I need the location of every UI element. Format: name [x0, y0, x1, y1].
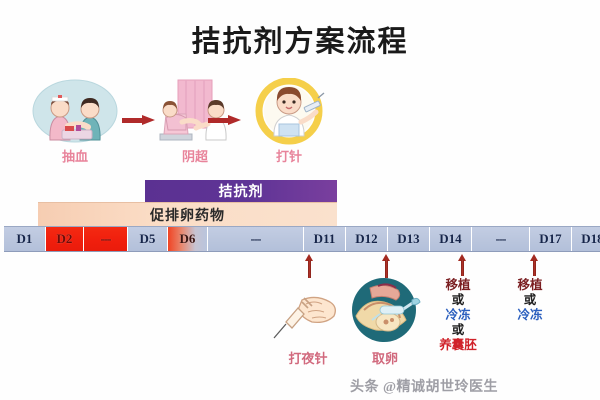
timeline-cell-d11[interactable]: D11	[304, 227, 346, 251]
marker-arrow-d12-icon	[305, 254, 314, 278]
timeline-cell-label: D1	[17, 231, 33, 247]
timeline-cell-gap-5[interactable]: ---	[208, 227, 304, 251]
blood-draw-illustration: 抽血	[32, 78, 118, 146]
egg-retrieval-label: 取卵	[340, 348, 430, 367]
outcome-d19: 移植或冷冻	[502, 278, 558, 323]
timeline-cell-d18[interactable]: D18	[572, 227, 600, 251]
trigger-shot-illustration	[268, 282, 348, 344]
timeline-cell-label: D14	[439, 231, 461, 247]
timeline-cell-d6[interactable]: D6	[168, 227, 208, 251]
timeline-cell-label: D18	[581, 231, 600, 247]
outcome-line-transplant: 移植	[502, 278, 558, 293]
ultrasound-illustration: 阴超	[152, 78, 238, 146]
timeline-cell-d5[interactable]: D5	[128, 227, 168, 251]
timeline-cell-label: D17	[539, 231, 561, 247]
watermark: 头条 @精诚胡世玲医生	[350, 376, 498, 396]
timeline-cell-label: D13	[397, 231, 419, 247]
outcome-line-or: 或	[430, 323, 486, 338]
outcome-line-or: 或	[502, 293, 558, 308]
timeline-cell-gap-2[interactable]: ---	[84, 227, 128, 251]
marker-arrow-d14-icon	[382, 254, 391, 278]
timeline-cell-label: ---	[496, 231, 506, 247]
outcome-d17: 移植或冷冻或养囊胚	[430, 278, 486, 353]
timeline-cell-label: D5	[140, 231, 156, 247]
bar-stimulation: 促排卵药物	[38, 202, 337, 226]
top-flow-label-2: 阴超	[152, 146, 238, 165]
flow-arrow-1-icon	[122, 116, 156, 125]
outcome-line-freeze: 冷冻	[502, 308, 558, 323]
outcome-line-or: 或	[430, 293, 486, 308]
flow-arrow-2-icon	[208, 116, 242, 125]
outcome-line-blast: 养囊胚	[430, 338, 486, 353]
bar-antagonist: 拮抗剂	[145, 180, 337, 202]
timeline-cell-label: D12	[355, 231, 377, 247]
timeline-cell-label: D6	[180, 231, 196, 247]
timeline-cell-d14[interactable]: D14	[430, 227, 472, 251]
timeline: D1D2---D5D6---D11D12D13D14---D17D18D19	[4, 226, 600, 252]
timeline-cell-d1[interactable]: D1	[4, 227, 46, 251]
timeline-cell-d17[interactable]: D17	[530, 227, 572, 251]
timeline-cell-label: D11	[314, 231, 336, 247]
timeline-cell-d12[interactable]: D12	[346, 227, 388, 251]
timeline-cell-label: ---	[251, 231, 261, 247]
timeline-cell-d13[interactable]: D13	[388, 227, 430, 251]
infographic-canvas: 拮抗剂方案流程 抽	[0, 0, 600, 400]
bar-antagonist-label: 拮抗剂	[219, 181, 264, 201]
timeline-cell-label: ---	[101, 231, 111, 247]
marker-arrow-d19-icon	[530, 254, 539, 276]
marker-arrow-d17-icon	[458, 254, 467, 276]
injection-illustration: 打针	[246, 78, 332, 146]
top-flow-label-1: 抽血	[32, 146, 118, 165]
top-flow-row: 抽血	[0, 78, 340, 173]
timeline-cell-d2[interactable]: D2	[46, 227, 84, 251]
page-title: 拮抗剂方案流程	[0, 18, 600, 60]
timeline-cell-label: D2	[57, 231, 73, 247]
outcome-line-freeze: 冷冻	[430, 308, 486, 323]
bar-stimulation-label: 促排卵药物	[150, 205, 225, 225]
timeline-cell-gap-10[interactable]: ---	[472, 227, 530, 251]
egg-retrieval-illustration	[344, 276, 424, 338]
outcome-line-transplant: 移植	[430, 278, 486, 293]
top-flow-label-3: 打针	[246, 146, 332, 165]
